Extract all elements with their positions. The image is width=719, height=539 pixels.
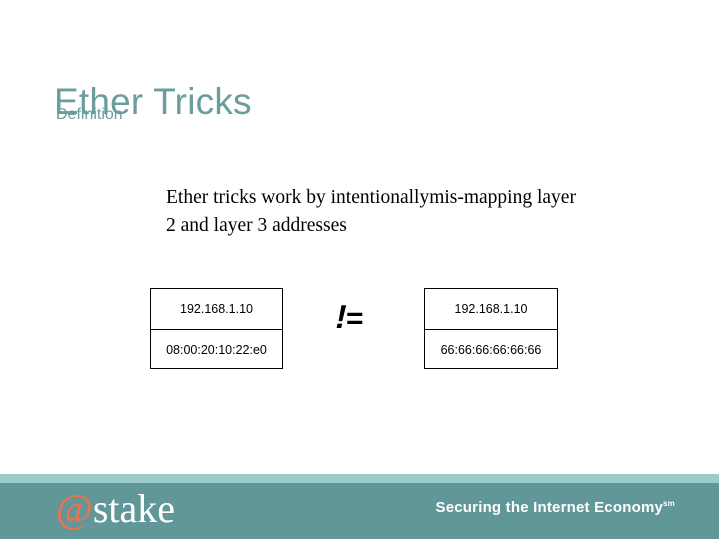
tagline-text: Securing the Internet Economy: [436, 499, 664, 516]
right-mac-address: 66:66:66:66:66:66: [425, 330, 557, 370]
left-ip-address: 192.168.1.10: [151, 289, 282, 330]
body-paragraph: Ether tricks work by intentionallymis-ma…: [166, 184, 586, 240]
slide-subtitle: Definition: [56, 107, 123, 123]
address-box-left: 192.168.1.10 08:00:20:10:22:e0: [150, 288, 283, 369]
right-ip-address: 192.168.1.10: [425, 289, 557, 330]
footer-tagline: Securing the Internet Economysm: [436, 499, 675, 516]
not-equal-symbol: !=: [336, 300, 363, 335]
logo-wordmark: stake: [93, 486, 175, 531]
slide: Ether Tricks Definition Ether tricks wor…: [0, 0, 719, 539]
atstake-logo: @stake: [56, 487, 175, 531]
service-mark-icon: sm: [663, 499, 675, 508]
address-box-right: 192.168.1.10 66:66:66:66:66:66: [424, 288, 558, 369]
at-symbol-icon: @: [56, 486, 93, 531]
equals-icon: =: [346, 304, 363, 334]
left-mac-address: 08:00:20:10:22:e0: [151, 330, 282, 370]
footer-accent-stripe: [0, 474, 719, 483]
